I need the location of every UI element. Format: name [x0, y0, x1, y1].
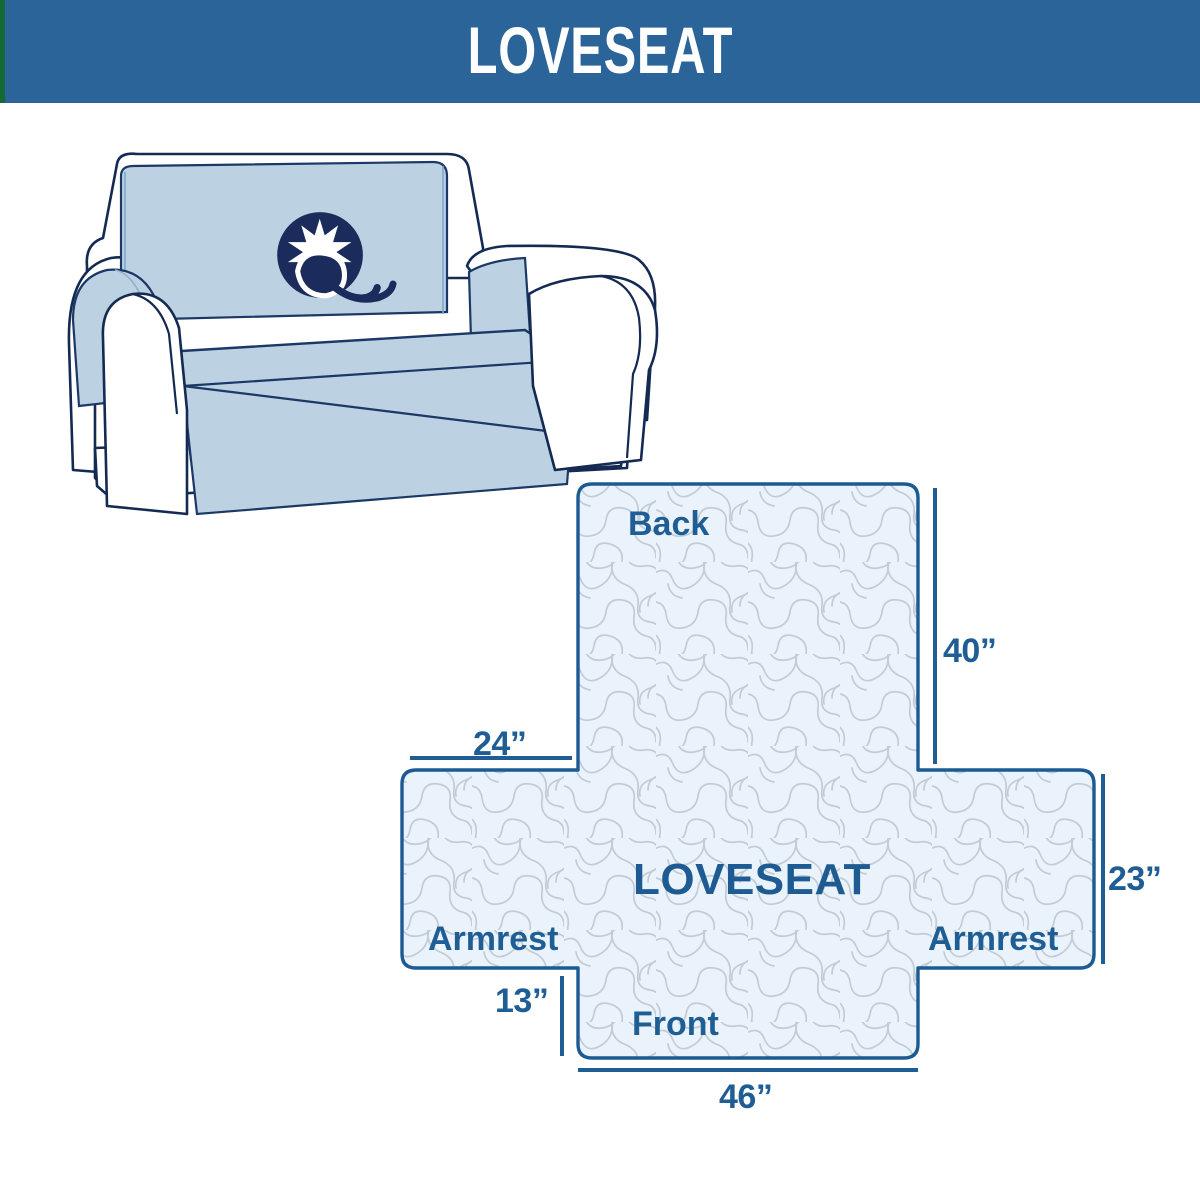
dimension-label-back-width: 24” — [473, 725, 526, 764]
panel-label-armrest-left: Armrest — [428, 920, 558, 959]
dimension-label-armrest-height: 23” — [1108, 860, 1161, 899]
cover-pattern-diagram: Back Armrest Armrest Front LOVESEAT 40” … — [380, 470, 1180, 1130]
header-banner: LOVESEAT — [0, 0, 1200, 103]
page-title: LOVESEAT — [467, 17, 733, 87]
sofa-right-arm-roll — [529, 276, 657, 470]
pattern-center-label: LOVESEAT — [633, 855, 871, 905]
header-accent-strip — [0, 0, 5, 103]
dimension-label-front-height: 13” — [495, 982, 548, 1021]
cover-cross-shape — [402, 484, 1094, 1058]
sofa-left-arm-roll — [103, 294, 187, 514]
cover-pattern-svg — [380, 470, 1180, 1130]
panel-label-front: Front — [632, 1005, 719, 1044]
panel-label-armrest-right: Armrest — [928, 920, 1058, 959]
panel-label-back: Back — [628, 505, 709, 544]
dimension-label-back-height: 40” — [943, 632, 996, 671]
dimension-label-front-width: 46” — [719, 1078, 772, 1117]
